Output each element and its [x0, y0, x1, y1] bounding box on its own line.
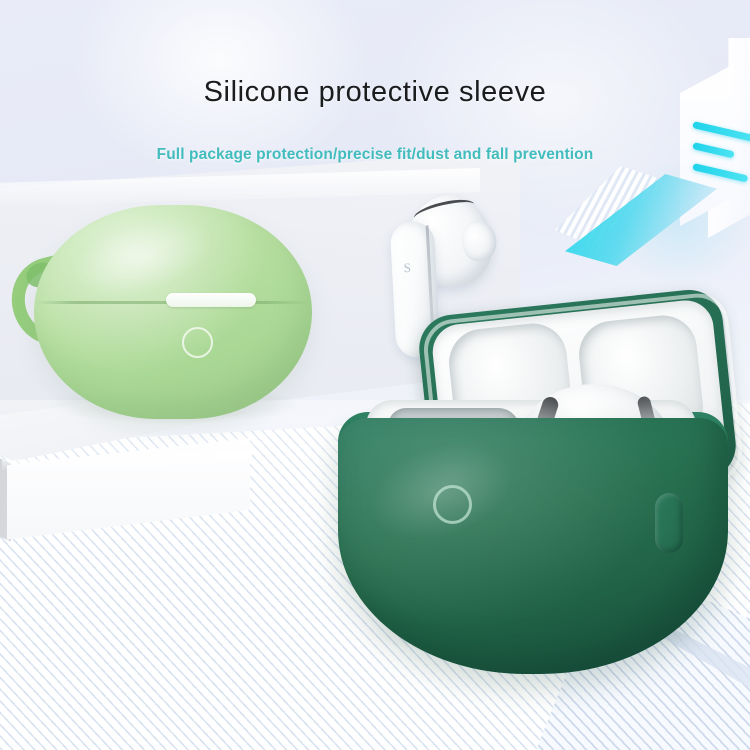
page-title: Silicone protective sleeve — [0, 76, 750, 109]
product-image-canvas: S Silicone protective sleeve Full packag… — [0, 0, 750, 750]
earbud-brand-logo-icon: S — [403, 260, 418, 277]
led-indicator-ring-icon-dark — [433, 485, 472, 524]
page-subtitle: Full package protection/precise fit/dust… — [0, 146, 750, 164]
led-indicator-ring-icon — [182, 327, 213, 358]
case-side-button — [655, 493, 683, 553]
mint-case-lid-notch — [166, 293, 256, 307]
mint-green-silicone-case — [12, 205, 332, 435]
dark-green-silicone-case — [330, 300, 745, 675]
